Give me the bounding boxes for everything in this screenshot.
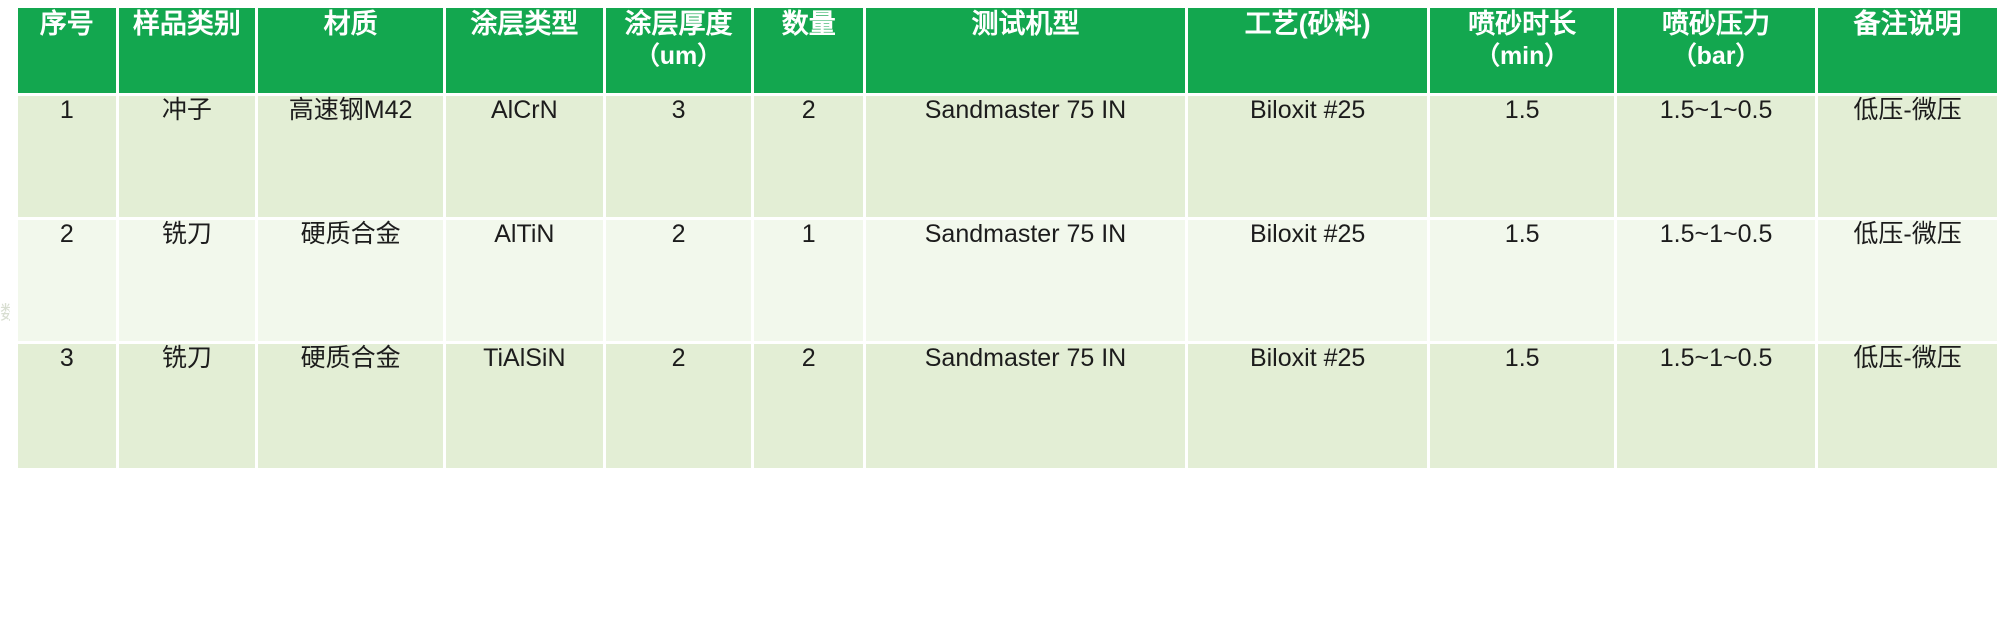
column-header-test-machine[interactable]: 测试机型 <box>866 8 1188 96</box>
column-header-process-media-title: 工艺(砂料) <box>1245 9 1371 39</box>
column-header-blast-time-unit: （min） <box>1430 41 1614 72</box>
cell-quantity[interactable]: 1 <box>754 220 866 344</box>
table-row[interactable]: 3 铣刀 硬质合金 TiAlSiN 2 2 Sandmaster 75 IN B… <box>18 344 1997 468</box>
column-header-process-media[interactable]: 工艺(砂料) <box>1188 8 1430 96</box>
column-header-coating-type-title: 涂层类型 <box>470 9 578 39</box>
cell-coating-type[interactable]: AlTiN <box>446 220 606 344</box>
cell-sample-type[interactable]: 铣刀 <box>119 220 259 344</box>
cell-no[interactable]: 3 <box>18 344 119 468</box>
column-header-blast-time-title: 喷砂时长 <box>1468 9 1576 39</box>
cell-blast-pressure[interactable]: 1.5~1~0.5 <box>1617 344 1818 468</box>
column-header-coating-thickness-unit: （um） <box>606 41 752 72</box>
cell-test-machine[interactable]: Sandmaster 75 IN <box>866 220 1188 344</box>
cell-process-media[interactable]: Biloxit #25 <box>1188 220 1430 344</box>
cell-blast-time[interactable]: 1.5 <box>1430 96 1617 220</box>
cell-process-media[interactable]: Biloxit #25 <box>1188 344 1430 468</box>
cell-sample-type[interactable]: 冲子 <box>119 96 259 220</box>
left-edge-artifact: 数 <box>0 300 10 360</box>
cell-sample-type[interactable]: 铣刀 <box>119 344 259 468</box>
table-header: 序号 样品类别 材质 涂层类型 涂层厚度 （um） <box>18 8 1997 96</box>
column-header-coating-type[interactable]: 涂层类型 <box>446 8 606 96</box>
cell-blast-pressure[interactable]: 1.5~1~0.5 <box>1617 96 1818 220</box>
cell-blast-time[interactable]: 1.5 <box>1430 220 1617 344</box>
header-row: 序号 样品类别 材质 涂层类型 涂层厚度 （um） <box>18 8 1997 96</box>
cell-coating-thickness[interactable]: 2 <box>606 344 755 468</box>
cell-blast-pressure[interactable]: 1.5~1~0.5 <box>1617 220 1818 344</box>
column-header-no[interactable]: 序号 <box>18 8 119 96</box>
cell-blast-time[interactable]: 1.5 <box>1430 344 1617 468</box>
cell-no[interactable]: 1 <box>18 96 119 220</box>
cell-no[interactable]: 2 <box>18 220 119 344</box>
column-header-test-machine-title: 测试机型 <box>971 9 1079 39</box>
cell-material[interactable]: 高速钢M42 <box>258 96 446 220</box>
column-header-blast-pressure-unit: （bar） <box>1617 41 1815 72</box>
column-header-blast-pressure[interactable]: 喷砂压力 （bar） <box>1617 8 1818 96</box>
column-header-coating-thickness[interactable]: 涂层厚度 （um） <box>606 8 755 96</box>
column-header-sample-type[interactable]: 样品类别 <box>119 8 259 96</box>
cell-coating-thickness[interactable]: 3 <box>606 96 755 220</box>
column-header-quantity[interactable]: 数量 <box>754 8 866 96</box>
cell-test-machine[interactable]: Sandmaster 75 IN <box>866 344 1188 468</box>
column-header-remark[interactable]: 备注说明 <box>1818 8 1997 96</box>
column-header-blast-time[interactable]: 喷砂时长 （min） <box>1430 8 1617 96</box>
column-header-sample-type-title: 样品类别 <box>133 9 241 39</box>
column-header-material[interactable]: 材质 <box>258 8 446 96</box>
table-body: 1 冲子 高速钢M42 AlCrN 3 2 Sandmaster 75 IN B… <box>18 96 1997 468</box>
cell-material[interactable]: 硬质合金 <box>258 220 446 344</box>
column-header-no-title: 序号 <box>40 9 94 39</box>
column-header-coating-thickness-title: 涂层厚度 <box>625 9 733 39</box>
cell-test-machine[interactable]: Sandmaster 75 IN <box>866 96 1188 220</box>
spreadsheet-canvas: 数 序号 样品类别 <box>0 0 2015 637</box>
cell-remark[interactable]: 低压-微压 <box>1818 96 1997 220</box>
cell-remark[interactable]: 低压-微压 <box>1818 344 1997 468</box>
cell-coating-type[interactable]: AlCrN <box>446 96 606 220</box>
sample-test-plan-table: 序号 样品类别 材质 涂层类型 涂层厚度 （um） <box>18 8 1997 468</box>
column-header-blast-pressure-title: 喷砂压力 <box>1662 9 1770 39</box>
cell-coating-thickness[interactable]: 2 <box>606 220 755 344</box>
cell-quantity[interactable]: 2 <box>754 344 866 468</box>
column-header-remark-title: 备注说明 <box>1854 9 1962 39</box>
table-row[interactable]: 1 冲子 高速钢M42 AlCrN 3 2 Sandmaster 75 IN B… <box>18 96 1997 220</box>
table-row[interactable]: 2 铣刀 硬质合金 AlTiN 2 1 Sandmaster 75 IN Bil… <box>18 220 1997 344</box>
cell-process-media[interactable]: Biloxit #25 <box>1188 96 1430 220</box>
cell-coating-type[interactable]: TiAlSiN <box>446 344 606 468</box>
column-header-quantity-title: 数量 <box>782 9 836 39</box>
column-header-material-title: 材质 <box>324 9 378 39</box>
cell-remark[interactable]: 低压-微压 <box>1818 220 1997 344</box>
cell-quantity[interactable]: 2 <box>754 96 866 220</box>
cell-material[interactable]: 硬质合金 <box>258 344 446 468</box>
